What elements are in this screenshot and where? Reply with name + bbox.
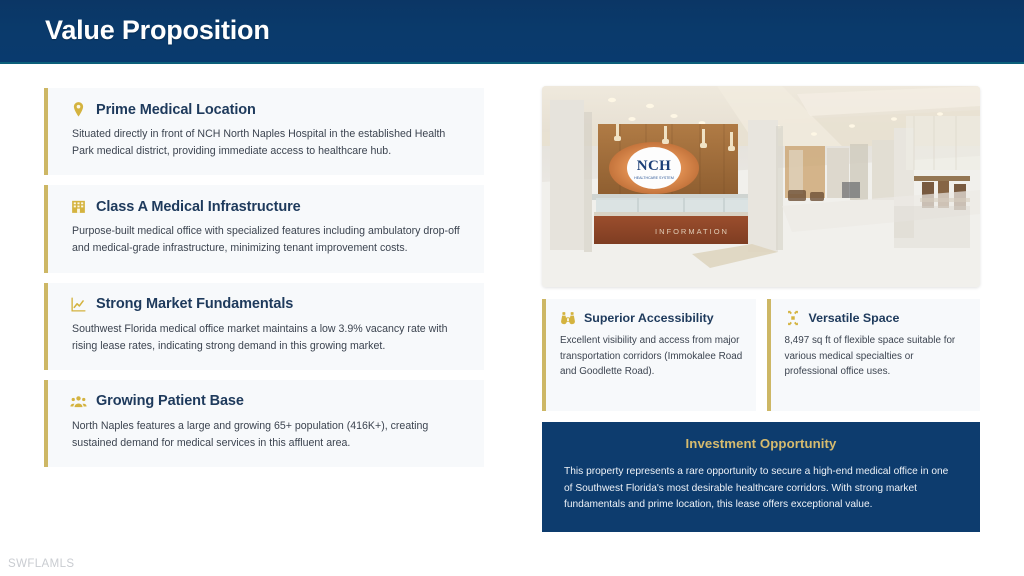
right-column: NCH HEALTHCARE SYSTEM INFORMATION: [542, 86, 980, 532]
feature-card-header: Growing Patient Base: [70, 393, 468, 410]
mini-card-title: Superior Accessibility: [584, 311, 714, 325]
left-feature-list: Prime Medical Location Situated directly…: [44, 88, 484, 477]
mini-card-body: Excellent visibility and access from maj…: [560, 333, 743, 380]
feature-card-header: Class A Medical Infrastructure: [70, 198, 468, 215]
photo-illustration: NCH HEALTHCARE SYSTEM INFORMATION: [542, 86, 980, 287]
feature-card-prime-medical-location[interactable]: Prime Medical Location Situated directly…: [44, 88, 484, 175]
investment-opportunity-panel: Investment Opportunity This property rep…: [542, 422, 980, 532]
feature-card-growing-patient-base[interactable]: Growing Patient Base North Naples featur…: [44, 380, 484, 467]
feature-card-class-a-medical-infrastructure[interactable]: Class A Medical Infrastructure Purpose-b…: [44, 185, 484, 272]
svg-text:NCH: NCH: [637, 158, 672, 174]
people-group-icon: [70, 393, 87, 410]
binoculars-icon: [560, 310, 576, 326]
investment-body: This property represents a rare opportun…: [564, 464, 958, 514]
svg-text:HEALTHCARE SYSTEM: HEALTHCARE SYSTEM: [634, 176, 674, 180]
mini-card-superior-accessibility[interactable]: Superior Accessibility Excellent visibil…: [542, 299, 756, 411]
chart-line-icon: [70, 296, 87, 313]
feature-body: Southwest Florida medical office market …: [70, 321, 468, 355]
feature-card-strong-market-fundamentals[interactable]: Strong Market Fundamentals Southwest Flo…: [44, 283, 484, 370]
feature-body: Purpose-built medical office with specia…: [70, 223, 468, 257]
hospital-building-icon: [70, 198, 87, 215]
feature-card-header: Prime Medical Location: [70, 101, 468, 118]
mini-card-body: 8,497 sq ft of flexible space suitable f…: [785, 333, 968, 380]
mini-card-header: Versatile Space: [785, 310, 968, 326]
mini-card-title: Versatile Space: [809, 311, 900, 325]
mini-feature-row: Superior Accessibility Excellent visibil…: [542, 299, 980, 411]
investment-title: Investment Opportunity: [564, 436, 958, 451]
feature-card-header: Strong Market Fundamentals: [70, 296, 468, 313]
mini-card-header: Superior Accessibility: [560, 310, 743, 326]
slide-header: Value Proposition: [0, 0, 1024, 64]
feature-title: Growing Patient Base: [96, 393, 244, 409]
hospital-lobby-photo: NCH HEALTHCARE SYSTEM INFORMATION: [542, 86, 980, 287]
slide-root: Value Proposition Prime Medical Location…: [0, 0, 1024, 576]
mini-card-versatile-space[interactable]: Versatile Space 8,497 sq ft of flexible …: [767, 299, 981, 411]
feature-title: Class A Medical Infrastructure: [96, 199, 301, 215]
svg-text:INFORMATION: INFORMATION: [655, 227, 729, 236]
feature-body: North Naples features a large and growin…: [70, 418, 468, 452]
map-pin-icon: [70, 101, 87, 118]
arrows-expand-icon: [785, 310, 801, 326]
feature-title: Prime Medical Location: [96, 102, 256, 118]
feature-body: Situated directly in front of NCH North …: [70, 126, 468, 160]
feature-title: Strong Market Fundamentals: [96, 296, 293, 312]
watermark-label: SWFLAMLS: [8, 558, 74, 570]
page-title: Value Proposition: [45, 15, 270, 46]
